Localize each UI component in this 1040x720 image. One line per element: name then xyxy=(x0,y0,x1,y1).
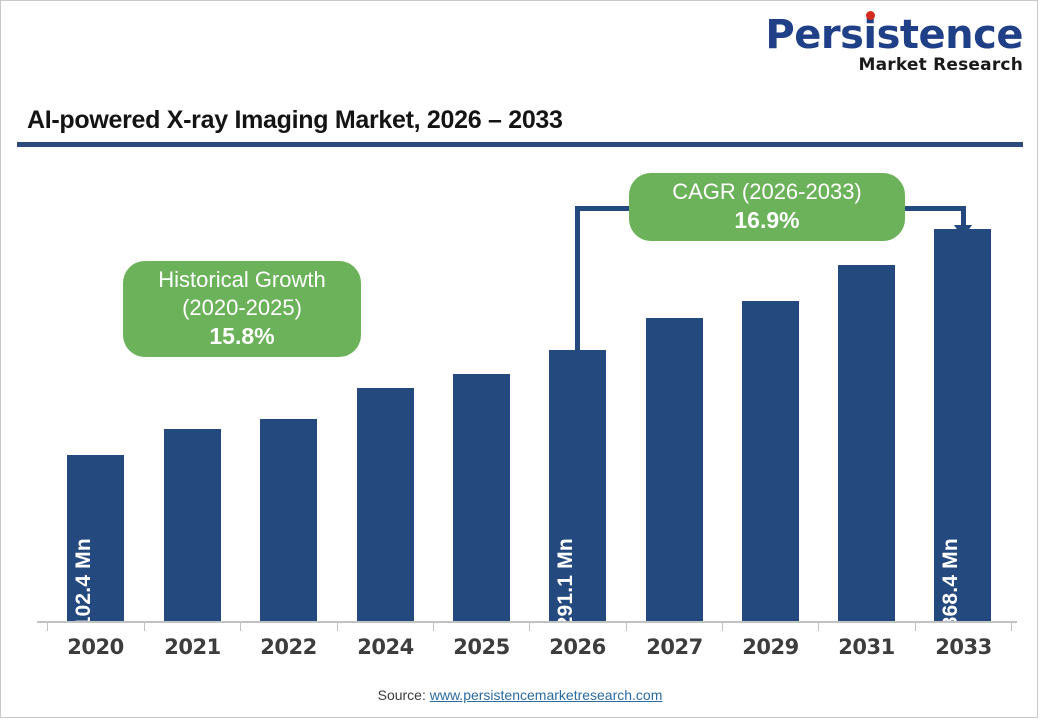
x-axis-label-2021: 2021 xyxy=(144,635,241,659)
historical-growth-value: 15.8% xyxy=(209,322,274,351)
x-axis-label-2031: 2031 xyxy=(818,635,915,659)
x-axis-tick xyxy=(240,621,241,631)
historical-growth-callout: Historical Growth (2020-2025) 15.8% xyxy=(123,261,361,357)
bar-2025[interactable] xyxy=(453,374,510,621)
bar-2031[interactable] xyxy=(838,265,895,621)
x-axis-tick xyxy=(433,621,434,631)
bar-2027[interactable] xyxy=(646,318,703,621)
x-axis-tick xyxy=(915,621,916,631)
source-footer: Source: www.persistencemarketresearch.co… xyxy=(1,687,1039,703)
cagr-callout: CAGR (2026-2033) 16.9% xyxy=(629,173,905,241)
bar-2022[interactable] xyxy=(260,419,317,621)
x-axis-label-2027: 2027 xyxy=(626,635,723,659)
x-axis-tick xyxy=(529,621,530,631)
x-axis-label-2025: 2025 xyxy=(433,635,530,659)
x-axis-label-2022: 2022 xyxy=(240,635,337,659)
bar-2026[interactable]: US$ 291.1 Mn xyxy=(549,350,606,621)
source-prefix: Source: xyxy=(378,687,430,703)
cagr-connector-top-right-horizontal xyxy=(899,206,966,211)
historical-growth-line1: Historical Growth xyxy=(158,266,325,294)
x-axis-label-2024: 2024 xyxy=(337,635,434,659)
x-axis-tick xyxy=(47,621,48,631)
x-axis-tick xyxy=(1011,621,1012,631)
bar-2021[interactable] xyxy=(164,429,221,621)
bar-2029[interactable] xyxy=(742,301,799,621)
chart-card: Persistence Market Research AI-powered X… xyxy=(0,0,1038,718)
bar-2020[interactable]: US$ 102.4 Mn xyxy=(67,455,124,621)
x-axis-line xyxy=(37,621,1017,623)
x-axis-label-2033: 2033 xyxy=(915,635,1012,659)
x-axis-label-2029: 2029 xyxy=(722,635,819,659)
x-axis-tick xyxy=(144,621,145,631)
source-link[interactable]: www.persistencemarketresearch.com xyxy=(430,687,663,703)
cagr-line1: CAGR (2026-2033) xyxy=(672,178,862,206)
x-axis-label-2026: 2026 xyxy=(529,635,626,659)
x-axis-tick xyxy=(337,621,338,631)
cagr-value: 16.9% xyxy=(734,206,799,235)
bar-2033[interactable]: US$ 868.4 Mn xyxy=(934,229,991,621)
bar-chart-plot-area: US$ 102.4 Mn US$ 291.1 Mn US$ 868.4 Mn xyxy=(1,1,1039,719)
x-axis-tick xyxy=(626,621,627,631)
x-axis-label-2020: 2020 xyxy=(47,635,144,659)
cagr-connector-left-vertical xyxy=(575,206,580,353)
x-axis-tick xyxy=(722,621,723,631)
historical-growth-line2: (2020-2025) xyxy=(182,294,302,322)
bar-2024[interactable] xyxy=(357,388,414,621)
x-axis-tick xyxy=(818,621,819,631)
